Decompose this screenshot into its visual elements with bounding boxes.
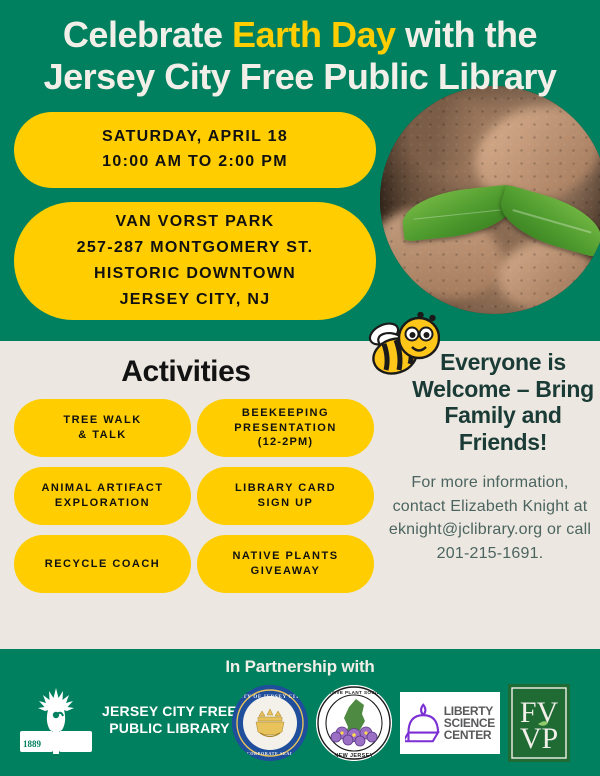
bee-icon	[362, 312, 440, 386]
event-date-pill: SATURDAY, APRIL 18 10:00 AM TO 2:00 PM	[14, 112, 376, 188]
jcfpl-logo: 1889 JERSEY CITY FREE PUBLIC LIBRARY	[18, 681, 240, 759]
activity-pill: NATIVE PLANTSGIVEAWAY	[197, 535, 374, 593]
activity-pill: RECYCLE COACH	[14, 535, 191, 593]
activity-label-line: EXPLORATION	[55, 496, 150, 511]
activity-label-line: & TALK	[78, 428, 127, 443]
friends-of-van-vorst-park-logo: FV VP	[508, 684, 570, 762]
activity-pill: LIBRARY CARDSIGN UP	[197, 467, 374, 525]
seal-top-text: CITY OF JERSEY CITY	[236, 694, 304, 700]
activity-pill: BEEKEEPINGPRESENTATION(12-2PM)	[197, 399, 374, 457]
partnership-heading: In Partnership with	[0, 657, 600, 677]
lsc-line-3: CENTER	[444, 729, 495, 741]
lsc-dome-icon	[405, 698, 440, 748]
venue-name: VAN VORST PARK	[116, 209, 275, 235]
library-founding-year: 1889	[23, 739, 42, 749]
activity-label-line: LIBRARY CARD	[235, 481, 336, 496]
venue-neighborhood: HISTORIC DOWNTOWN	[94, 261, 296, 287]
headline-accent: Earth Day	[232, 14, 396, 55]
seal-bottom-text: CORPORATE SEAL	[247, 751, 294, 756]
activity-sublabel: (12-2PM)	[258, 435, 313, 450]
activity-label-line: PRESENTATION	[234, 421, 337, 436]
footer-panel: In Partnership with 1889	[0, 649, 600, 776]
activity-label-line: TREE WALK	[63, 413, 141, 428]
city-of-jersey-city-seal: CITY OF JERSEY CITY CORPORATE SEAL	[232, 685, 308, 761]
liberty-science-center-logo: LIBERTY SCIENCE CENTER	[400, 692, 500, 754]
jcfpl-logo-text: JERSEY CITY FREE PUBLIC LIBRARY	[102, 703, 237, 738]
header-panel: Celebrate Earth Day with the Jersey City…	[0, 0, 600, 341]
headline-line-2: Jersey City Free Public Library	[8, 56, 592, 98]
nps-bottom-text: NEW JERSEY	[334, 753, 373, 759]
event-location-pill: VAN VORST PARK 257-287 MONTGOMERY ST. HI…	[14, 202, 376, 320]
activity-label-line: NATIVE PLANTS	[232, 549, 338, 564]
activity-label-line: ANIMAL ARTIFACT	[41, 481, 163, 496]
headline-line-1: Celebrate Earth Day with the	[8, 14, 592, 56]
page-title: Celebrate Earth Day with the Jersey City…	[0, 14, 600, 99]
headline-post: with the	[396, 14, 538, 55]
earth-day-flyer: Celebrate Earth Day with the Jersey City…	[0, 0, 600, 776]
activity-pill: TREE WALK& TALK	[14, 399, 191, 457]
event-time: 10:00 AM TO 2:00 PM	[102, 150, 288, 175]
nps-top-text: THE NATIVE PLANT SOCIETY OF	[316, 690, 392, 695]
activity-pill: ANIMAL ARTIFACTEXPLORATION	[14, 467, 191, 525]
activity-label-line: SIGN UP	[258, 496, 314, 511]
activities-panel: Activities TREE WALK& TALKBEEKEEPINGPRES…	[0, 341, 600, 649]
partner-logos: CITY OF JERSEY CITY CORPORATE SEAL	[232, 683, 594, 763]
activity-label-line: RECYCLE COACH	[45, 557, 160, 572]
activity-label-line: BEEKEEPING	[242, 406, 329, 421]
venue-city: JERSEY CITY, NJ	[120, 287, 271, 313]
activity-label-line: GIVEAWAY	[251, 564, 321, 579]
headline-pre: Celebrate	[63, 14, 232, 55]
activities-heading: Activities	[0, 355, 372, 389]
jcfpl-line-1: JERSEY CITY FREE	[102, 703, 237, 721]
seedling-photo	[380, 86, 600, 314]
event-date: SATURDAY, APRIL 18	[102, 125, 288, 150]
contact-info: For more information, contact Elizabeth …	[384, 471, 596, 566]
statue-of-liberty-book-icon: 1889	[18, 684, 94, 756]
activities-grid: TREE WALK& TALKBEEKEEPINGPRESENTATION(12…	[14, 399, 374, 593]
venue-street: 257-287 MONTGOMERY ST.	[77, 235, 314, 261]
native-plant-society-seal: THE NATIVE PLANT SOCIETY OF NEW JERSEY	[316, 685, 392, 761]
fvvp-line-2: VP	[520, 722, 558, 755]
lsc-logo-text: LIBERTY SCIENCE CENTER	[444, 705, 495, 742]
jcfpl-line-2: PUBLIC LIBRARY	[102, 720, 237, 738]
